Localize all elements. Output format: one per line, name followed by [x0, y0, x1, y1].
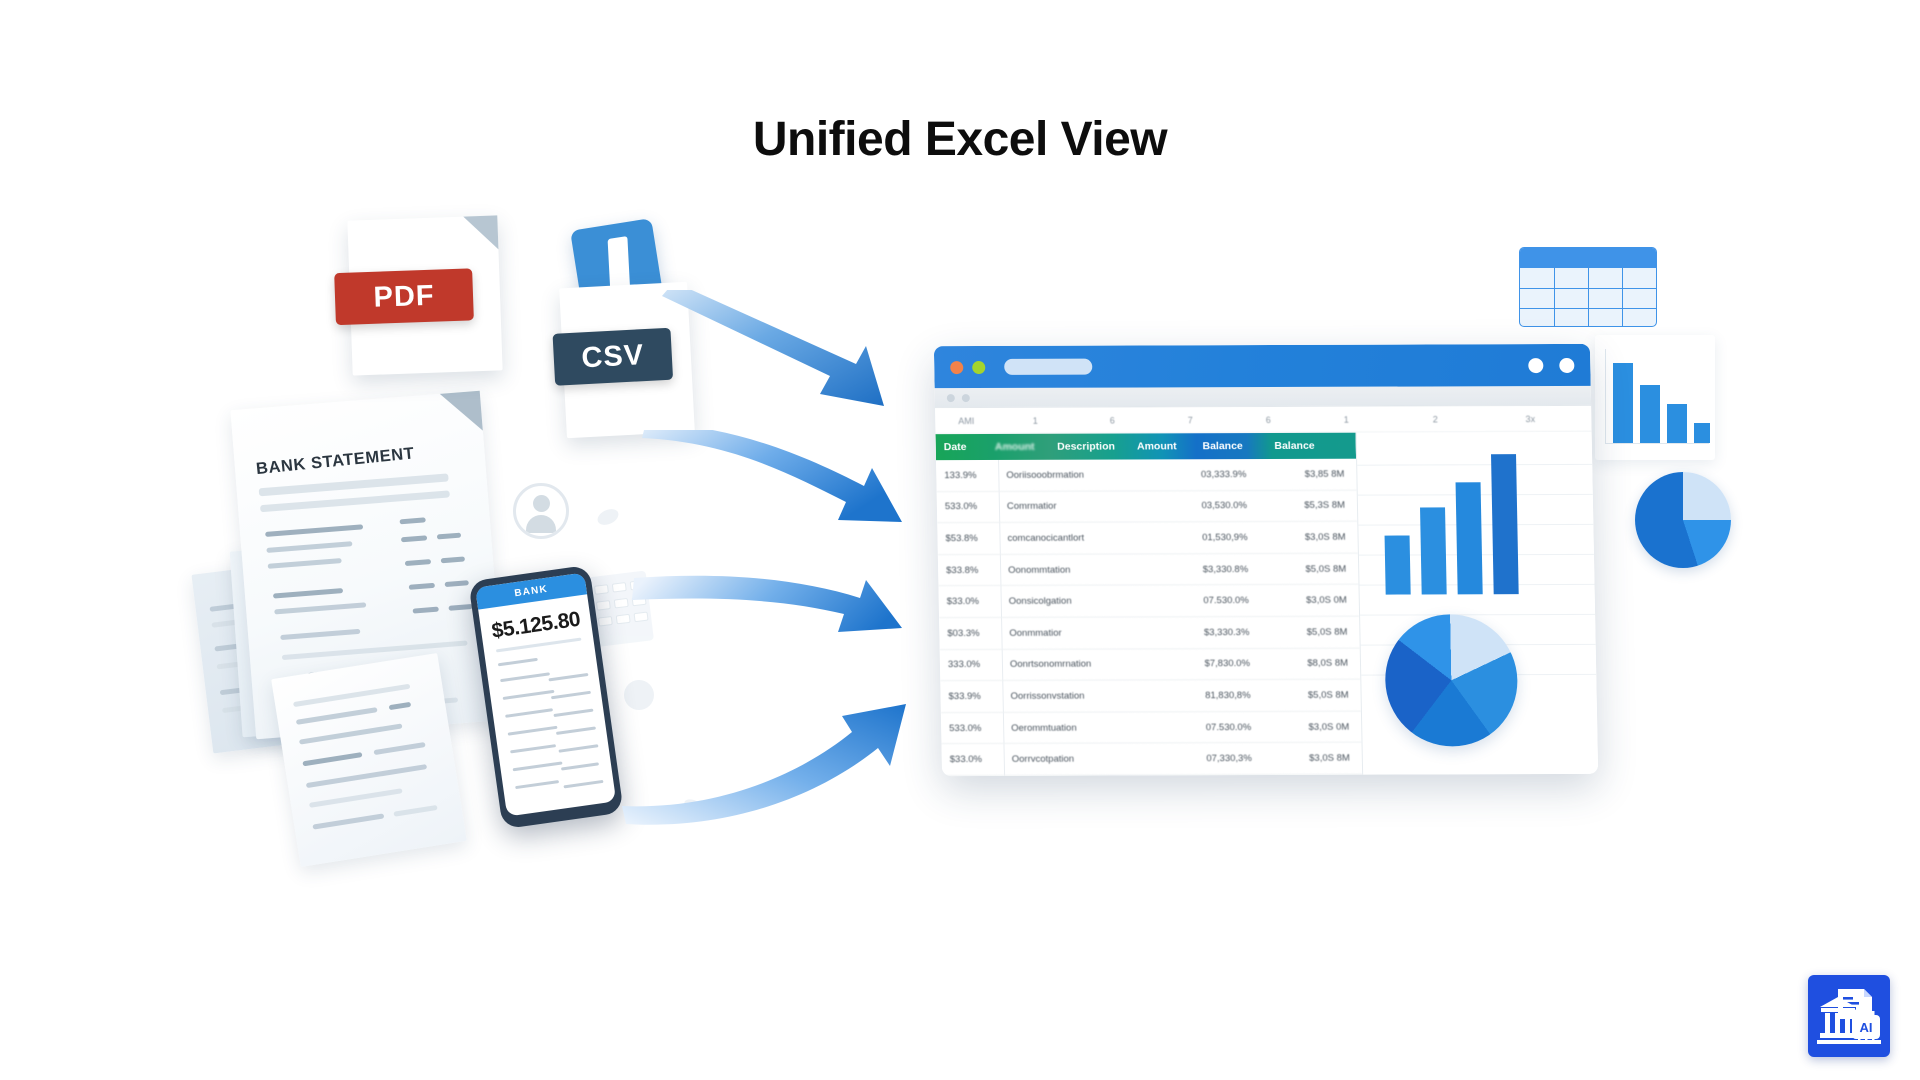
cell-balance: $5,0S 8M: [1258, 563, 1356, 574]
column-index-cell[interactable]: 6: [1229, 414, 1307, 424]
window-bar-chart: [1373, 454, 1556, 595]
cell-balance: $5,3S 8M: [1257, 500, 1355, 511]
cell-balance: $3,85 8M: [1256, 468, 1354, 479]
table-grid-icon: [1519, 247, 1657, 327]
cell-date: 533.0%: [941, 722, 1003, 733]
cell-amount: 81,830,8%: [1152, 690, 1260, 701]
cell-balance: $3,0S 8M: [1257, 532, 1355, 543]
cell-amount: 03,530.0%: [1149, 500, 1257, 511]
cell-description: comcanocicantlort: [999, 532, 1149, 544]
cell-date: $33.0%: [939, 596, 1001, 607]
cell-date: $53.8%: [937, 533, 999, 544]
window-titlebar: [934, 344, 1591, 388]
cell-description: Oorrissonvstation: [1002, 690, 1152, 702]
column-index-cell[interactable]: 3x: [1485, 413, 1575, 423]
column-index-cell[interactable]: 6: [1073, 415, 1151, 425]
column-index-row: AMI 1 6 7 6 1 2 3x: [935, 406, 1592, 434]
cell-balance: $3,0S 8M: [1262, 753, 1360, 764]
cell-balance: $3,0S 0M: [1259, 595, 1357, 606]
side-pie-chart: [1635, 472, 1731, 568]
flow-arrow-icon: [640, 430, 930, 550]
table-row[interactable]: 533.0% Oerommtuation 07.530.0% $3,0S 0M: [941, 711, 1362, 744]
user-avatar-icon: [513, 483, 569, 539]
spreadsheet-window[interactable]: AMI 1 6 7 6 1 2 3x Date Amount Descripti…: [934, 344, 1598, 776]
bank-ai-logo-glyph: AI: [1808, 975, 1890, 1057]
toolbar-icon[interactable]: [962, 394, 970, 402]
column-header-balance-2[interactable]: Balance: [1266, 440, 1356, 452]
page-title: Unified Excel View: [0, 112, 1920, 167]
flow-arrow-icon: [630, 570, 930, 680]
poster-canvas: Unified Excel View BANK STATEMENT: [0, 0, 1920, 1080]
side-bar-chart: [1595, 335, 1715, 460]
column-header-balance-1[interactable]: Balance: [1194, 440, 1266, 452]
table-row[interactable]: $33.0% Oorrvcotpation 07,330,3% $3,0S 8M: [941, 743, 1362, 776]
column-header-description[interactable]: Description: [1049, 440, 1129, 452]
column-index-cell[interactable]: 7: [1151, 415, 1229, 425]
phone-bank-label: BANK: [475, 572, 587, 609]
column-index-cell[interactable]: 1: [1307, 414, 1385, 424]
column-header-date[interactable]: Date: [936, 441, 987, 453]
flow-arrow-icon: [620, 690, 930, 830]
cell-balance: $3,0S 0M: [1261, 721, 1359, 732]
cell-amount: 07.530.0%: [1151, 595, 1259, 606]
cell-description: Oonmmatior: [1001, 627, 1151, 639]
cell-description: Oonrtsonomrnation: [1002, 659, 1152, 671]
table-row[interactable]: 133.9% Ooriisooobrmation 03,333.9% $3,85…: [936, 459, 1357, 492]
table-header-row: Date Amount Description Amount Balance B…: [936, 433, 1357, 460]
cell-balance: $8,0S 8M: [1260, 658, 1358, 669]
table-row[interactable]: 333.0% Oonrtsonomrnation $7,830.0% $8,0S…: [940, 648, 1361, 681]
table-row[interactable]: $03.3% Oonmmatior $3,330.3% $5,0S 8M: [939, 617, 1360, 650]
cell-date: $33.9%: [940, 691, 1002, 702]
cell-amount: 01,530,9%: [1149, 532, 1257, 543]
cell-amount: 03,333.9%: [1148, 469, 1256, 480]
column-header-amount-1[interactable]: Amount: [987, 441, 1050, 453]
pdf-file-icon: PDF: [347, 215, 502, 375]
cell-description: Ooriisooobrmation: [998, 469, 1148, 481]
window-pie-chart: [1384, 614, 1519, 746]
close-dot[interactable]: [950, 361, 963, 374]
cell-date: 133.9%: [936, 470, 998, 481]
decorative-blob: [595, 506, 621, 528]
cell-description: Comrmatior: [999, 501, 1149, 513]
table-row[interactable]: $53.8% comcanocicantlort 01,530,9% $3,0S…: [937, 522, 1358, 555]
table-row[interactable]: $33.8% Oonommtation $3,330.8% $5,0S 8M: [938, 553, 1359, 586]
cell-amount: $3,330.8%: [1150, 564, 1258, 575]
cell-date: $33.8%: [938, 565, 1000, 576]
window-toolbar: [935, 386, 1591, 408]
cell-amount: $3,330.3%: [1151, 627, 1259, 638]
cell-description: Oonommtation: [1000, 564, 1150, 576]
table-row[interactable]: $33.0% Oonsicolgation 07.530.0% $3,0S 0M: [938, 585, 1359, 618]
bank-statement-title: BANK STATEMENT: [255, 444, 415, 479]
bank-ai-logo[interactable]: AI: [1808, 975, 1890, 1057]
column-index-cell[interactable]: 2: [1385, 414, 1485, 424]
cell-date: 533.0%: [937, 501, 999, 512]
list-item: [271, 653, 467, 867]
table-row[interactable]: 533.0% Comrmatior 03,530.0% $5,3S 8M: [937, 490, 1358, 523]
csv-label: CSV: [553, 328, 674, 386]
table-row[interactable]: $33.9% Oorrissonvstation 81,830,8% $5,0S…: [940, 680, 1361, 713]
flow-arrow-icon: [660, 290, 930, 430]
transactions-table: Date Amount Description Amount Balance B…: [936, 433, 1363, 776]
pdf-label: PDF: [334, 268, 474, 325]
column-index-cell[interactable]: AMI: [935, 415, 997, 425]
cell-date: 333.0%: [940, 659, 1002, 670]
toolbar-icon[interactable]: [947, 394, 955, 402]
cell-balance: $5,0S 8M: [1259, 626, 1357, 637]
cell-date: $03.3%: [939, 628, 1001, 639]
column-index-cell[interactable]: 1: [997, 415, 1073, 425]
cell-date: $33.0%: [942, 754, 1004, 765]
cell-balance: $5,0S 8M: [1260, 690, 1358, 701]
control-dot[interactable]: [1528, 358, 1543, 373]
control-dot[interactable]: [1559, 357, 1574, 372]
cell-amount: 07,330,3%: [1154, 753, 1262, 764]
cell-description: Oorrvcotpation: [1004, 754, 1154, 766]
svg-text:AI: AI: [1860, 1020, 1873, 1035]
address-bar[interactable]: [1004, 359, 1092, 375]
minimize-dot[interactable]: [972, 361, 985, 374]
charts-pane: [1356, 432, 1599, 775]
cell-amount: $7,830.0%: [1152, 658, 1260, 669]
column-header-amount-2[interactable]: Amount: [1129, 440, 1195, 452]
cell-description: Oerommtuation: [1003, 722, 1153, 734]
cell-amount: 07.530.0%: [1153, 722, 1261, 733]
cell-description: Oonsicolgation: [1001, 596, 1151, 608]
